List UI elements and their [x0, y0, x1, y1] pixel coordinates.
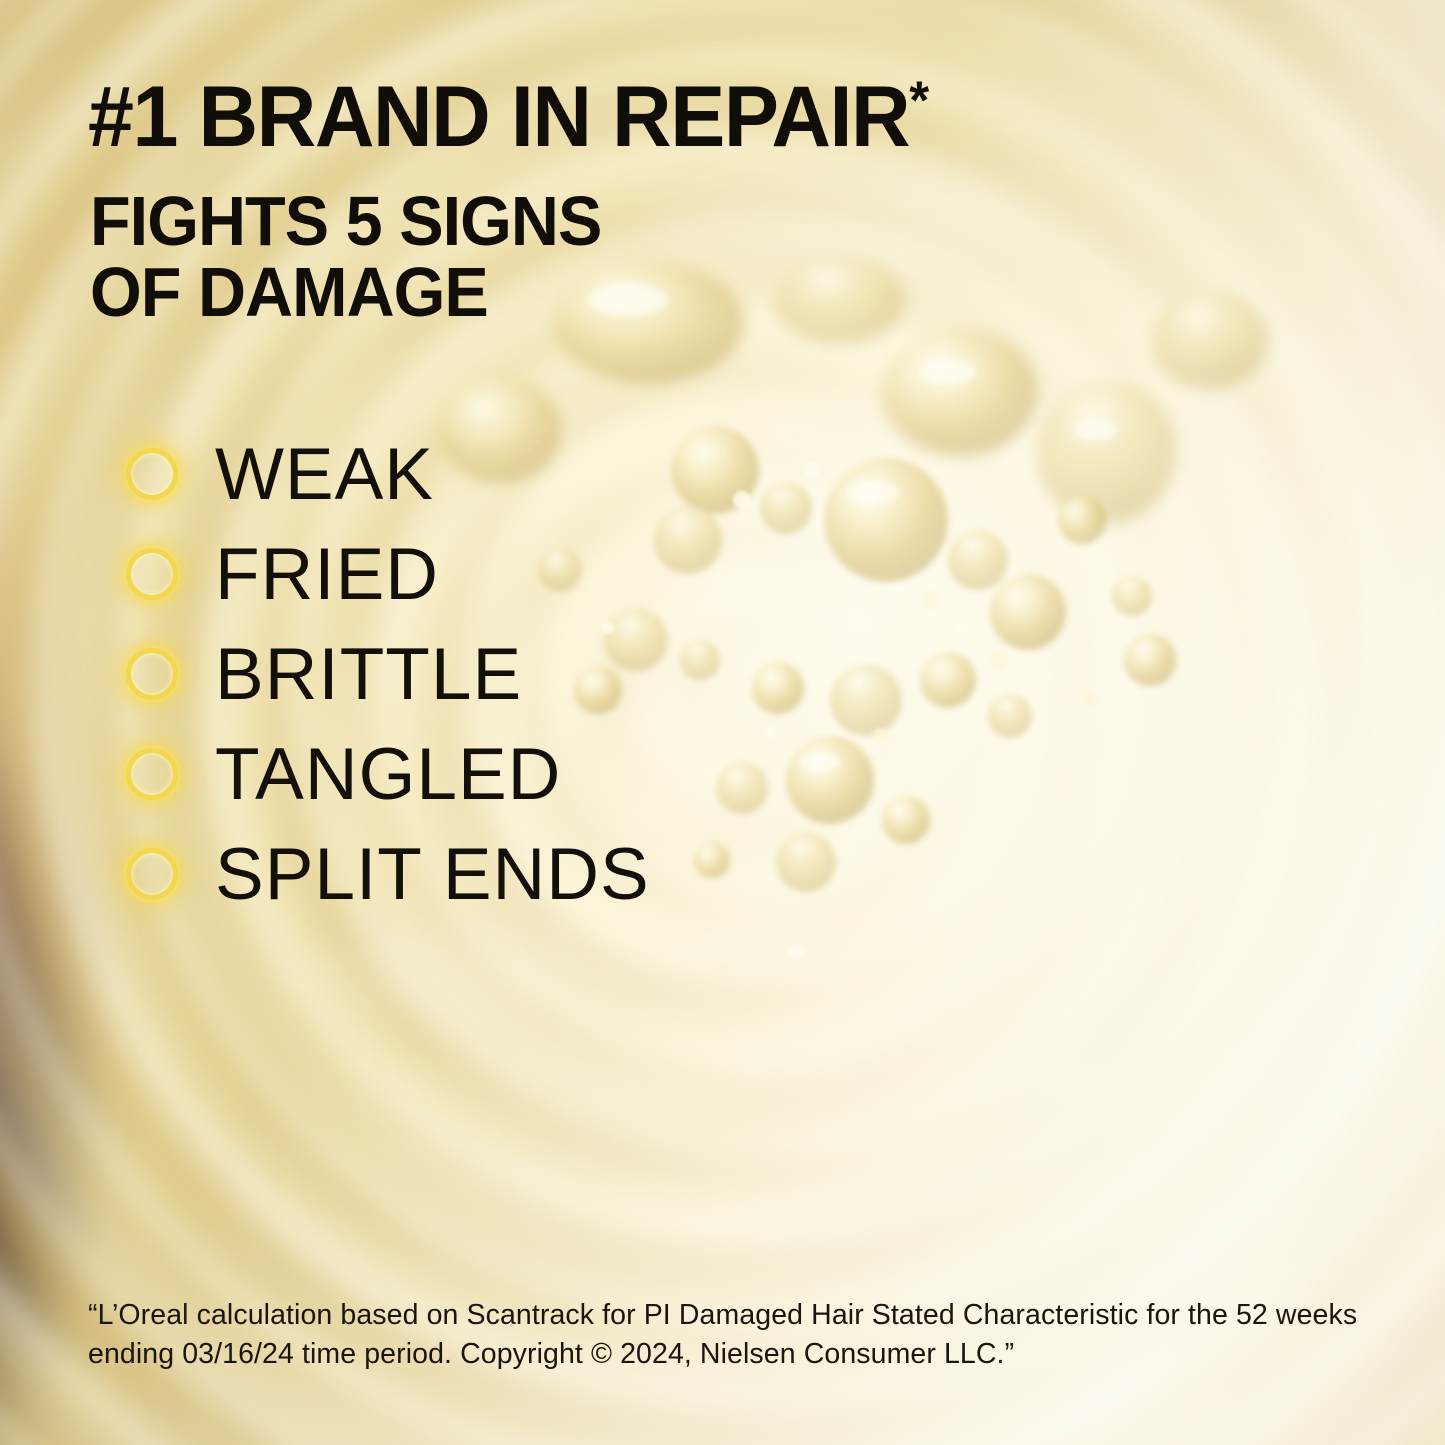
product-claim-panel: #1 BRAND IN REPAIR* FIGHTS 5 SIGNS OF DA… [0, 0, 1445, 1445]
list-item-label: WEAK [215, 438, 434, 511]
gold-ring-icon [126, 748, 178, 800]
text-overlay: #1 BRAND IN REPAIR* FIGHTS 5 SIGNS OF DA… [0, 0, 1445, 1445]
subtitle-line-1: FIGHTS 5 SIGNS [90, 186, 601, 257]
gold-ring-icon [126, 548, 178, 600]
gold-ring-icon [126, 648, 178, 700]
list-item-label: TANGLED [215, 738, 561, 811]
list-item: TANGLED [126, 724, 650, 824]
list-item-label: SPLIT ENDS [215, 838, 650, 911]
list-item: WEAK [126, 424, 650, 524]
gold-ring-icon [126, 448, 178, 500]
page-title: #1 BRAND IN REPAIR* [88, 75, 929, 159]
headline-text: #1 BRAND IN REPAIR [88, 69, 909, 165]
list-item: FRIED [126, 524, 650, 624]
subtitle-line-2: OF DAMAGE [90, 257, 601, 328]
gold-ring-icon [126, 848, 178, 900]
headline-footnote-marker: * [909, 71, 929, 130]
list-item: BRITTLE [126, 624, 650, 724]
list-item-label: FRIED [215, 538, 439, 611]
damage-signs-list: WEAK FRIED BRITTLE TANGLED SPLIT ENDS [126, 424, 650, 924]
list-item-label: BRITTLE [215, 638, 522, 711]
list-item: SPLIT ENDS [126, 824, 650, 924]
subtitle: FIGHTS 5 SIGNS OF DAMAGE [90, 186, 601, 329]
legal-footnote: “L’Oreal calculation based on Scantrack … [88, 1296, 1378, 1374]
